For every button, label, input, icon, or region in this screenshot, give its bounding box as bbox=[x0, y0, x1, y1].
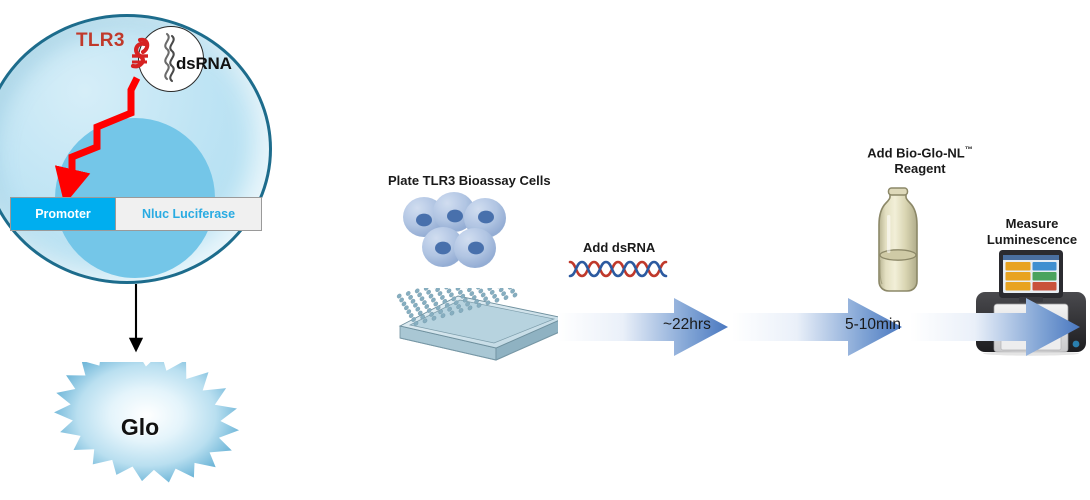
nluc-luciferase-segment: Nluc Luciferase bbox=[116, 197, 262, 231]
workflow-panel: Plate TLR3 Bioassay Cells Add dsRNA Add … bbox=[300, 0, 1090, 500]
dsrna-label: dsRNA bbox=[176, 54, 232, 74]
arrow-label-incubation: ~22hrs bbox=[663, 316, 711, 334]
workflow-arrow-3 bbox=[910, 296, 1080, 358]
down-arrow-icon bbox=[0, 282, 300, 372]
tlr3-label: TLR3 bbox=[76, 30, 125, 52]
trademark-symbol: ™ bbox=[965, 145, 973, 154]
step-caption-add-reagent: Add Bio-Glo-NL™ Reagent bbox=[840, 145, 1000, 177]
reagent-bottle-icon bbox=[870, 185, 926, 297]
step-caption-measure: Measure Luminescence bbox=[972, 216, 1090, 248]
measure-caption-line2: Luminescence bbox=[987, 232, 1077, 247]
glo-starburst-icon: Glo bbox=[40, 362, 240, 494]
step-caption-add-dsrna: Add dsRNA bbox=[583, 240, 655, 256]
cell-cluster-icon bbox=[400, 192, 510, 284]
dsrna-double-helix-icon bbox=[568, 258, 672, 280]
glo-label: Glo bbox=[40, 414, 240, 441]
step-caption-plate-cells: Plate TLR3 Bioassay Cells bbox=[388, 173, 551, 189]
arrow-label-reagent-time: 5-10min bbox=[845, 316, 901, 334]
cell-schematic-panel: TLR3 dsRNA Promoter Nluc Luciferase bbox=[0, 0, 300, 500]
reagent-caption-line1: Add Bio-Glo-NL bbox=[867, 145, 964, 160]
reagent-caption-line2: Reagent bbox=[894, 161, 945, 176]
reporter-construct: Promoter Nluc Luciferase bbox=[10, 197, 262, 231]
promoter-segment: Promoter bbox=[10, 197, 116, 231]
microplate-96-well-icon bbox=[392, 288, 572, 364]
measure-caption-line1: Measure bbox=[1006, 216, 1059, 231]
tlr3-receptor-icon bbox=[0, 0, 300, 140]
figure-canvas: TLR3 dsRNA Promoter Nluc Luciferase bbox=[0, 0, 1090, 500]
